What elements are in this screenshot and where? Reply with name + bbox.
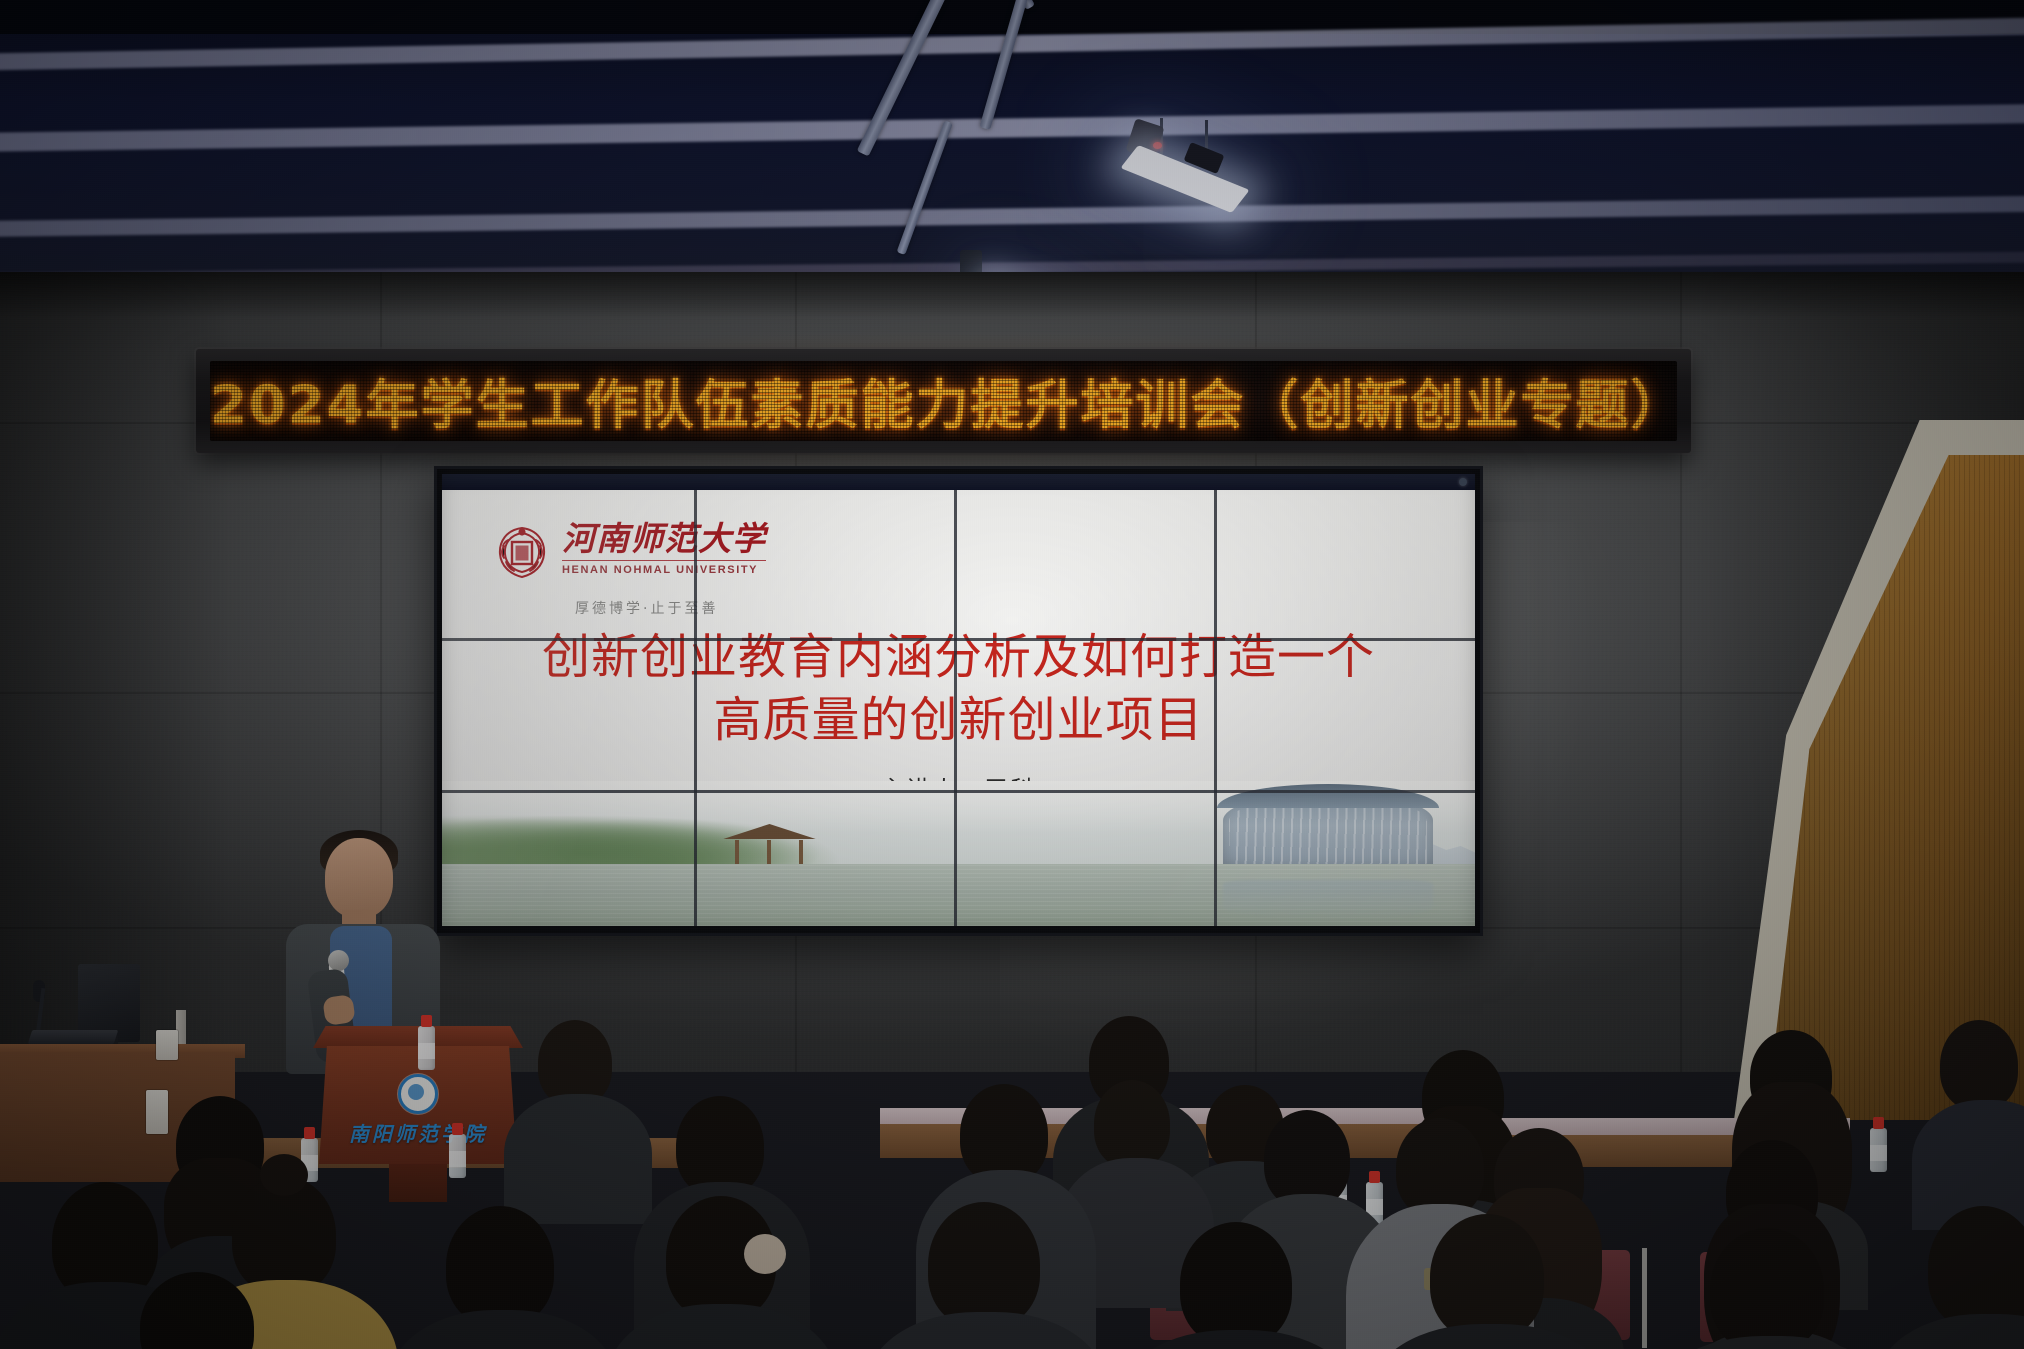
ceiling-stripe <box>0 195 2024 238</box>
logo-divider <box>562 560 766 561</box>
table-cloth <box>1430 1118 1850 1136</box>
front-table <box>1430 1135 1850 1167</box>
university-crest-icon <box>492 522 552 582</box>
water-bottle-icon <box>1366 1170 1383 1226</box>
building-rim <box>1217 784 1439 808</box>
slide-title-line1: 创新创业教育内涵分析及如何打造一个 <box>442 626 1475 689</box>
ceiling-stripe <box>0 103 2024 153</box>
pavilion-roof <box>717 824 822 839</box>
library-building <box>1223 784 1433 876</box>
chair <box>1700 1252 1810 1342</box>
speaker-head <box>325 838 393 918</box>
campus-photo <box>442 781 1475 926</box>
chair <box>1150 1250 1260 1340</box>
presentation-slide: 河南师范大学 HENAN NOHMAL UNIVERSITY 厚德博学·止于至善… <box>442 490 1475 926</box>
led-banner-text: 2024年学生工作队伍素质能力提升培训会（创新创业专题） <box>210 363 1677 439</box>
lecture-hall-photo: 2024年学生工作队伍素质能力提升培训会（创新创业专题） <box>0 0 2024 1349</box>
chair <box>1330 1252 1440 1342</box>
power-outlet-icon <box>156 1030 178 1060</box>
podium-institution-name: 南阳师范学院 <box>319 1118 517 1147</box>
chair <box>1520 1250 1630 1340</box>
podium-seal-icon <box>398 1074 438 1114</box>
university-logo: 河南师范大学 HENAN NOHMAL UNIVERSITY <box>492 522 766 582</box>
university-motto: 厚德博学·止于至善 <box>575 598 718 618</box>
water-bottle-icon <box>1826 1118 1843 1174</box>
building-reflection <box>1223 880 1433 920</box>
water-bottle-icon <box>449 1122 466 1178</box>
video-wall-screen: 河南师范大学 HENAN NOHMAL UNIVERSITY 厚德博学·止于至善… <box>442 490 1475 926</box>
ceiling-cable <box>897 120 953 255</box>
water-bottle-icon <box>1330 1166 1347 1222</box>
microphone-head-icon <box>328 950 349 971</box>
front-table <box>880 1124 1440 1158</box>
water-bottle-icon <box>1870 1116 1887 1172</box>
water-bottle-icon <box>1139 1104 1156 1160</box>
water-bottle-icon <box>301 1126 318 1182</box>
control-desk <box>0 1052 235 1182</box>
chair-leg <box>1642 1248 1647 1348</box>
ceiling <box>0 0 2024 300</box>
water-bottle-icon <box>1434 1098 1451 1154</box>
slide-title-line2: 高质量的创新创业项目 <box>442 689 1475 752</box>
university-name-cn: 河南师范大学 <box>562 522 766 555</box>
university-name-en: HENAN NOHMAL UNIVERSITY <box>562 564 766 576</box>
wood-acoustic-panel <box>1734 420 2024 1120</box>
indicator-light-icon <box>1153 142 1162 149</box>
video-wall: 河南师范大学 HENAN NOHMAL UNIVERSITY 厚德博学·止于至善… <box>434 466 1483 936</box>
podium-base <box>389 1162 447 1202</box>
video-wall-top-bezel <box>442 474 1475 490</box>
led-banner: 2024年学生工作队伍素质能力提升培训会（创新创业专题） <box>196 349 1691 453</box>
power-indicator-icon <box>1459 478 1467 486</box>
slide-title: 创新创业教育内涵分析及如何打造一个 高质量的创新创业项目 <box>442 626 1475 753</box>
keyboard-icon <box>28 1030 119 1044</box>
water-bottle-icon <box>418 1014 435 1070</box>
led-banner-screen: 2024年学生工作队伍素质能力提升培训会（创新创业专题） <box>210 361 1677 441</box>
power-outlet-icon <box>146 1090 168 1134</box>
chair-leg <box>1452 1248 1457 1348</box>
chair-leg <box>1268 1248 1273 1348</box>
